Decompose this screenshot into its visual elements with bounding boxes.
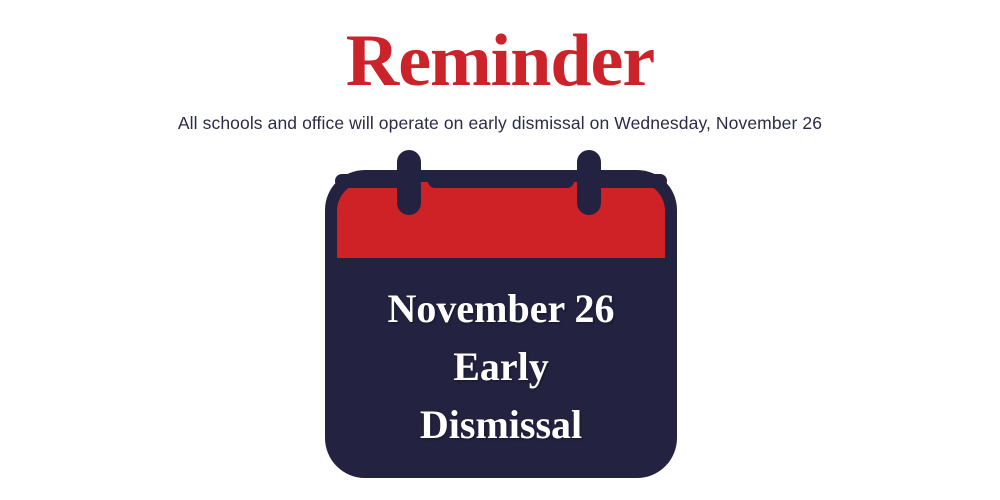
calendar-line-early: Early bbox=[337, 338, 665, 396]
calendar-line-date: November 26 bbox=[337, 280, 665, 338]
calendar-top-rail-middle bbox=[428, 174, 574, 188]
page-subtitle: All schools and office will operate on e… bbox=[0, 111, 1000, 135]
calendar-text-block: November 26 Early Dismissal bbox=[337, 258, 665, 454]
calendar-top-rail-right bbox=[591, 174, 667, 188]
page-title: Reminder bbox=[0, 22, 1000, 100]
calendar-header-band bbox=[337, 182, 665, 258]
calendar-icon: November 26 Early Dismissal bbox=[325, 150, 677, 480]
reminder-poster: Reminder All schools and office will ope… bbox=[0, 0, 1000, 500]
calendar-ring-left bbox=[397, 150, 421, 215]
calendar-ring-right bbox=[577, 150, 601, 215]
calendar-line-dismissal: Dismissal bbox=[337, 396, 665, 454]
